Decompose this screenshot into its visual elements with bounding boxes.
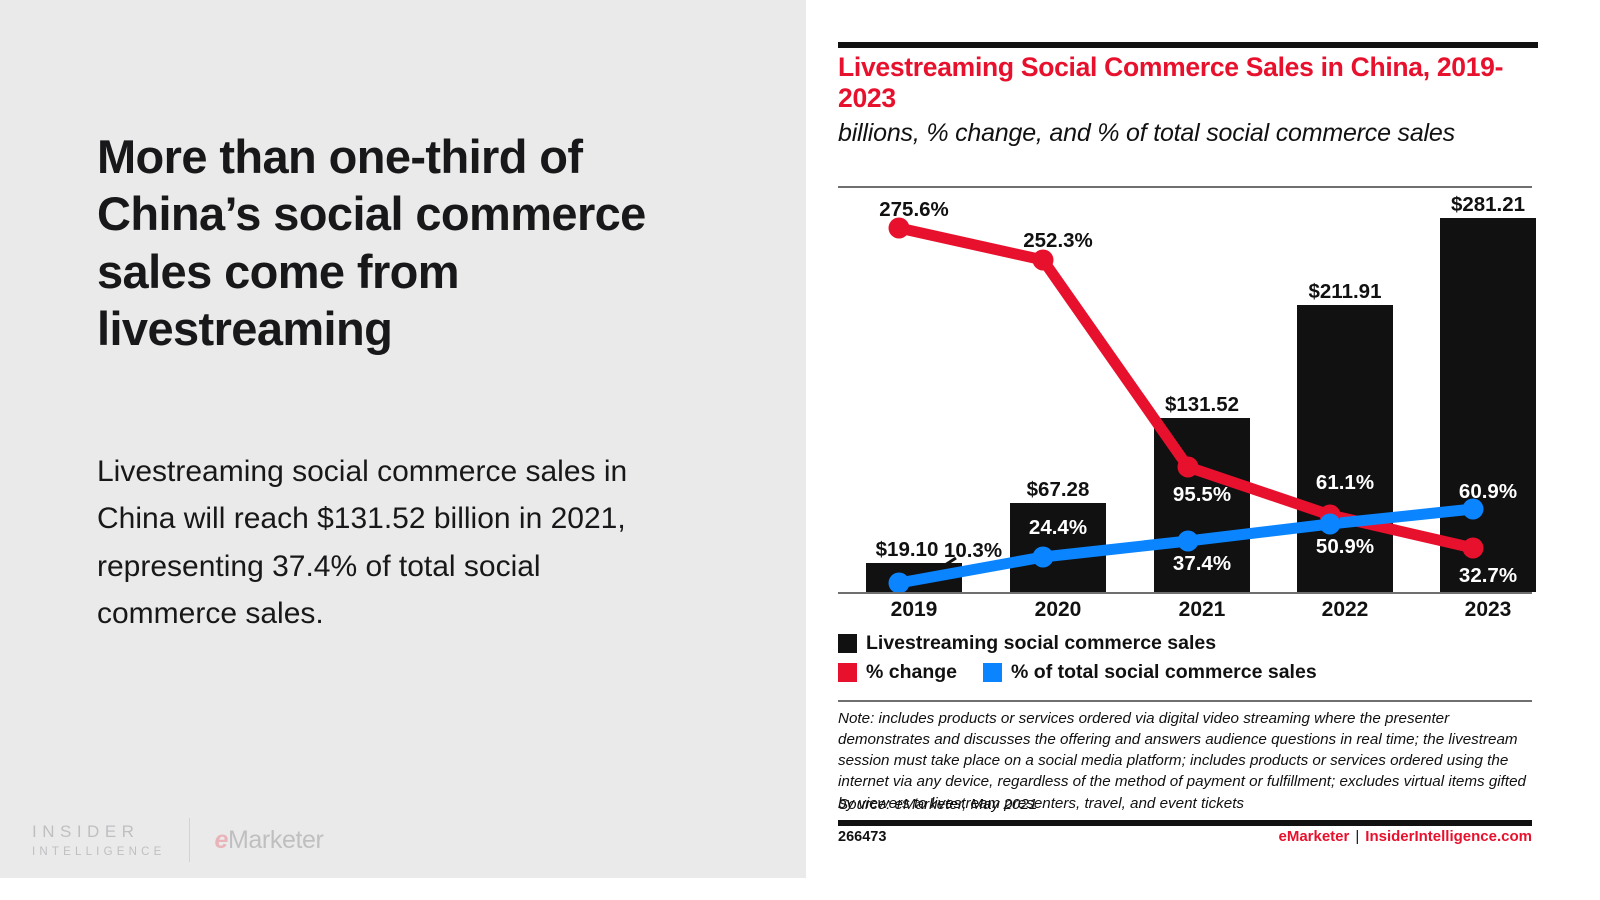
x-axis-line [838, 592, 1532, 594]
chart-subtitle: billions, % change, and % of total socia… [838, 118, 1498, 148]
pct-total-label-2023: 60.9% [1433, 480, 1543, 504]
footer-brand-emarketer: eMarketer [1278, 828, 1349, 845]
footer-rule [838, 820, 1532, 826]
legend-row-sales: Livestreaming social commerce sales [838, 632, 1538, 655]
x-tick-2021: 2021 [1142, 598, 1262, 622]
emarketer-logo-e: e [214, 826, 228, 854]
summary-paragraph: Livestreaming social commerce sales in C… [97, 448, 677, 638]
pct-change-label-2022: 61.1% [1290, 471, 1400, 495]
pct-change-label-2019: 275.6% [859, 198, 969, 222]
legend-row-pct: % change % of total social commerce sale… [838, 661, 1538, 684]
pct-total-label-2021: 37.4% [1147, 552, 1257, 576]
insider-logo-line1: INSIDER [32, 822, 165, 842]
x-tick-2022: 2022 [1285, 598, 1405, 622]
x-tick-2020: 2020 [998, 598, 1118, 622]
plot-area: $19.10 $67.28 $131.52 $211.91 $281.21 27… [838, 190, 1538, 600]
emarketer-logo-rest: Marketer [228, 826, 323, 854]
x-tick-2019: 2019 [854, 598, 974, 622]
note-rule [838, 700, 1532, 702]
x-axis-labels: 2019 2020 2021 2022 2023 [838, 598, 1538, 630]
x-tick-2023: 2023 [1428, 598, 1548, 622]
infographic-page: More than one-third of China’s social co… [0, 0, 1600, 900]
footer-brand-url[interactable]: InsiderIntelligence.com [1365, 828, 1532, 845]
bar-value-2021: $131.52 [1147, 393, 1257, 417]
bar-value-2023: $281.21 [1433, 193, 1543, 217]
legend-swatch-pct-change [838, 663, 857, 682]
chart-legend: Livestreaming social commerce sales % ch… [838, 632, 1538, 690]
top-rule [838, 42, 1538, 48]
left-text-panel: More than one-third of China’s social co… [0, 0, 806, 878]
bar-value-2020: $67.28 [1003, 478, 1113, 502]
insider-logo-line2: INTELLIGENCE [32, 846, 165, 858]
pct-change-label-2021: 95.5% [1147, 483, 1257, 507]
footer-brand: eMarketer|InsiderIntelligence.com [1278, 828, 1532, 845]
insider-intelligence-logo: INSIDER INTELLIGENCE [32, 822, 165, 858]
bar-2023 [1440, 218, 1536, 592]
subtitle-rule [838, 186, 1532, 188]
legend-label-sales: Livestreaming social commerce sales [866, 632, 1216, 655]
logo-divider [189, 818, 190, 862]
bar-2019 [866, 563, 962, 592]
page-title: More than one-third of China’s social co… [97, 128, 697, 357]
brand-logo-lockup: INSIDER INTELLIGENCE eMarketer [32, 818, 323, 862]
footer-brand-separator: | [1355, 828, 1359, 845]
bar-value-2022: $211.91 [1290, 280, 1400, 304]
pct-change-label-2020: 252.3% [1003, 229, 1113, 253]
pct-total-label-2022: 50.9% [1290, 535, 1400, 559]
chart-title: Livestreaming Social Commerce Sales in C… [838, 52, 1528, 115]
legend-label-pct-total: % of total social commerce sales [1011, 661, 1317, 684]
chart-footer: 266473 eMarketer|InsiderIntelligence.com [838, 828, 1532, 845]
chart-source: Source: eMarketer, May 2021 [838, 794, 1538, 815]
legend-swatch-pct-total [983, 663, 1002, 682]
chart-id: 266473 [838, 829, 886, 845]
pct-total-label-2019: 10.3% [918, 539, 1028, 563]
pct-total-label-2020: 24.4% [1003, 516, 1113, 540]
pct-change-label-2023: 32.7% [1433, 564, 1543, 588]
legend-swatch-sales [838, 634, 857, 653]
chart-panel: Livestreaming Social Commerce Sales in C… [838, 0, 1538, 900]
legend-label-pct-change: % change [866, 661, 957, 684]
emarketer-logo: eMarketer [214, 826, 323, 855]
